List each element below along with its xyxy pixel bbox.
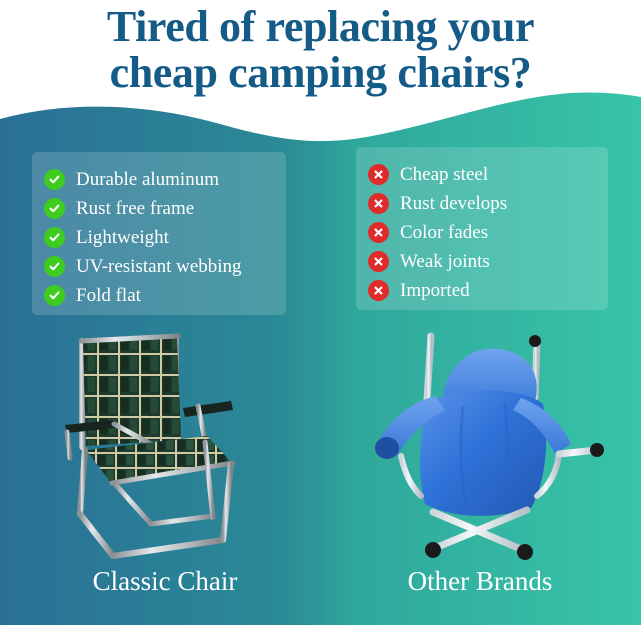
list-item: Rust develops xyxy=(368,190,592,217)
pros-card: Durable aluminum Rust free frame Lightwe… xyxy=(32,152,286,315)
list-item-label: Lightweight xyxy=(76,228,169,247)
list-item-label: Durable aluminum xyxy=(76,170,219,189)
caption-other-brands: Other Brands xyxy=(345,566,615,597)
comparison-infographic: Tired of replacing your cheap camping ch… xyxy=(0,0,641,625)
headline-line-2: cheap camping chairs? xyxy=(110,48,532,97)
list-item-label: Imported xyxy=(400,281,470,300)
check-circle-icon xyxy=(44,169,65,190)
check-circle-icon xyxy=(44,227,65,248)
list-item-label: UV-resistant webbing xyxy=(76,257,242,276)
check-circle-icon xyxy=(44,256,65,277)
page-title: Tired of replacing your cheap camping ch… xyxy=(21,0,621,96)
product-image-classic-chair xyxy=(55,332,285,564)
cross-circle-icon xyxy=(368,251,389,272)
cross-circle-icon xyxy=(368,193,389,214)
list-item-label: Weak joints xyxy=(400,252,490,271)
list-item: Cheap steel xyxy=(368,161,592,188)
product-image-other-brands-chair xyxy=(355,328,610,566)
list-item: Rust free frame xyxy=(44,195,270,222)
list-item-label: Rust develops xyxy=(400,194,507,213)
cross-circle-icon xyxy=(368,164,389,185)
list-item-label: Cheap steel xyxy=(400,165,488,184)
check-circle-icon xyxy=(44,198,65,219)
list-item-label: Fold flat xyxy=(76,286,141,305)
list-item: Imported xyxy=(368,277,592,304)
list-item: UV-resistant webbing xyxy=(44,253,270,280)
cross-circle-icon xyxy=(368,280,389,301)
check-circle-icon xyxy=(44,285,65,306)
caption-classic-chair: Classic Chair xyxy=(30,566,300,597)
cross-circle-icon xyxy=(368,222,389,243)
cons-list: Cheap steel Rust develops Color fades xyxy=(368,161,592,304)
list-item: Color fades xyxy=(368,219,592,246)
cons-card: Cheap steel Rust develops Color fades xyxy=(356,147,608,310)
pros-list: Durable aluminum Rust free frame Lightwe… xyxy=(44,166,270,309)
list-item: Lightweight xyxy=(44,224,270,251)
headline-area: Tired of replacing your cheap camping ch… xyxy=(0,0,641,108)
list-item-label: Rust free frame xyxy=(76,199,194,218)
list-item: Fold flat xyxy=(44,282,270,309)
list-item: Weak joints xyxy=(368,248,592,275)
list-item: Durable aluminum xyxy=(44,166,270,193)
headline-line-1: Tired of replacing your xyxy=(107,2,534,51)
list-item-label: Color fades xyxy=(400,223,488,242)
